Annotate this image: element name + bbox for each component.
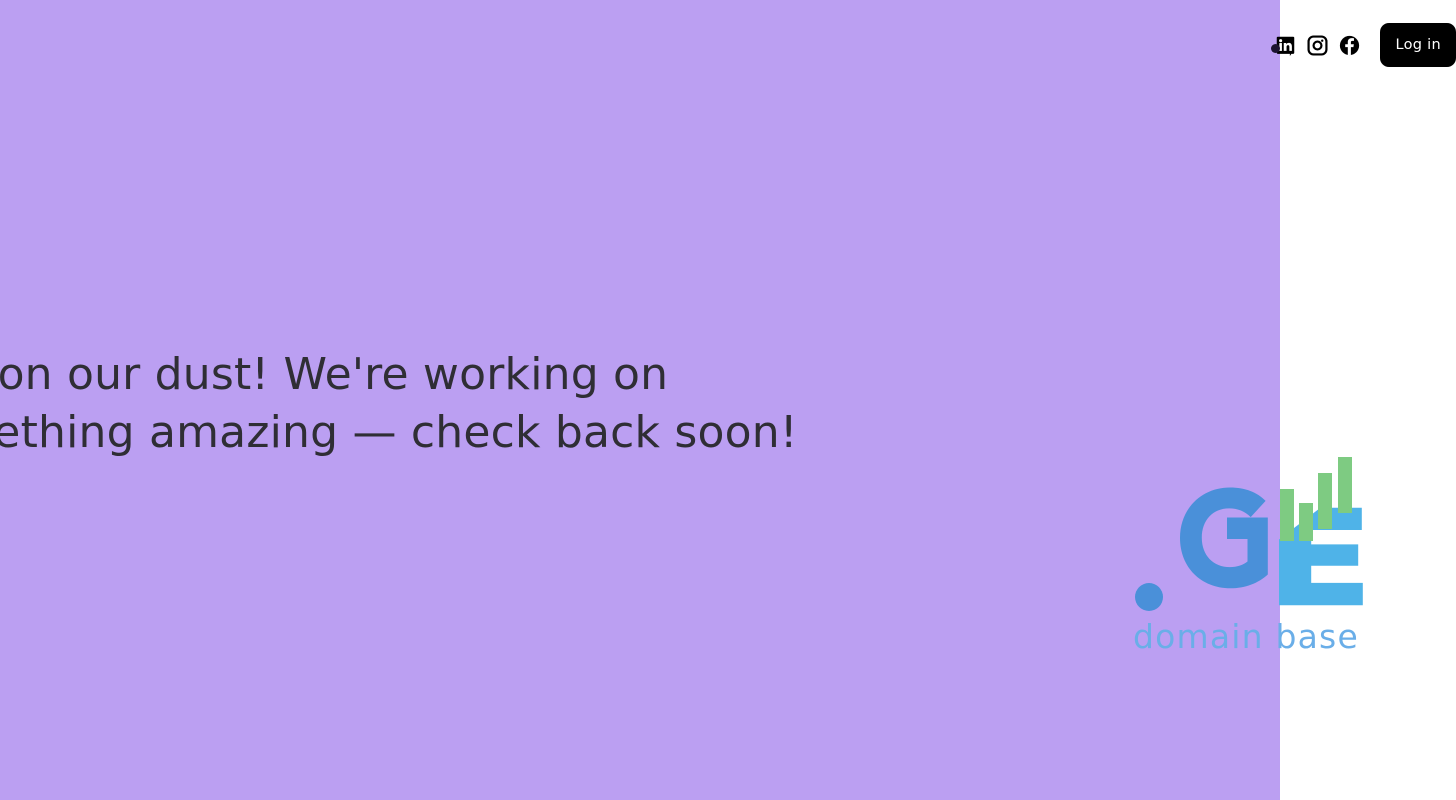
logo-wordmark: domain base <box>1131 617 1363 656</box>
brand-dot-icon <box>1271 44 1280 53</box>
social-links <box>1275 35 1360 56</box>
logo-mark-icon <box>1131 455 1363 625</box>
maintenance-page: Log in Pardon our dust! We're working on… <box>0 0 1456 800</box>
facebook-icon[interactable] <box>1339 35 1360 56</box>
login-button[interactable]: Log in <box>1380 23 1456 67</box>
hero-heading: Pardon our dust! We're working on someth… <box>0 346 1000 462</box>
instagram-icon[interactable] <box>1307 35 1328 56</box>
site-logo[interactable]: domain base <box>1131 455 1363 656</box>
header-bar: Log in <box>1275 0 1456 90</box>
